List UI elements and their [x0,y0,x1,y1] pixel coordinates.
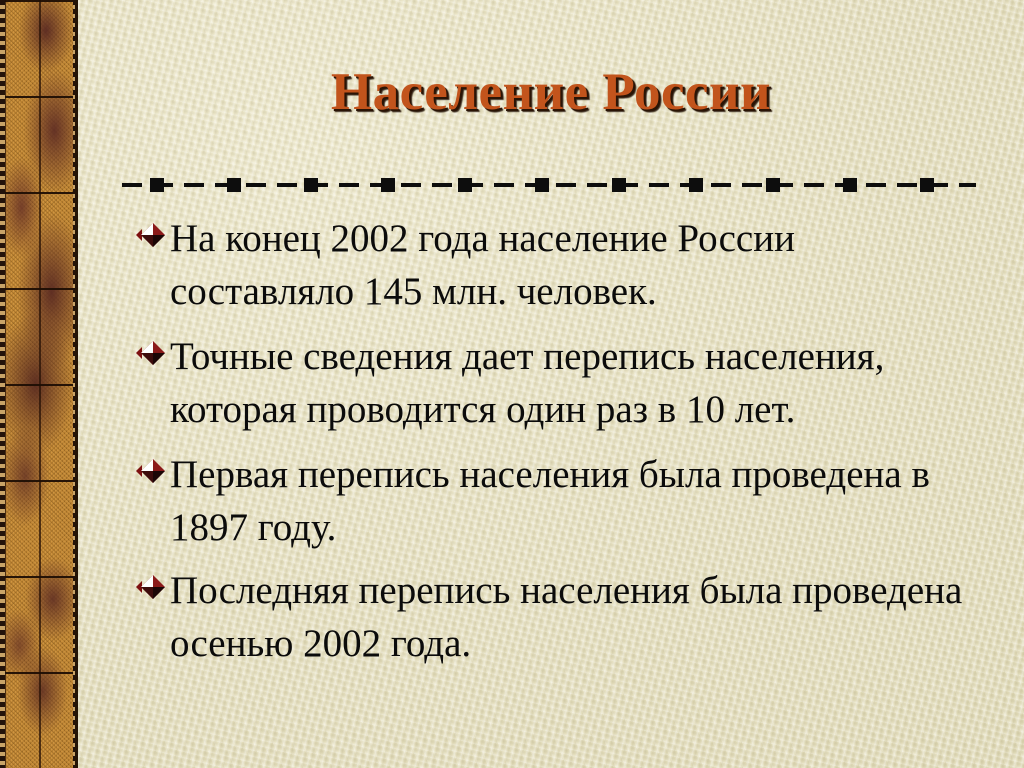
divider-node [535,178,549,192]
mosaic-rail-left [0,0,5,768]
diamond-arrow-bullet-icon [136,452,170,496]
list-item: На конец 2002 года население России сост… [136,212,1006,318]
list-item: Последняя перепись населения была провед… [136,564,1006,670]
divider-node [689,178,703,192]
divider-node [227,178,241,192]
list-item: Точные сведения дает перепись населения,… [136,330,1006,436]
list-item-text: Точные сведения дает перепись населения,… [170,330,980,436]
divider-node [304,178,318,192]
divider-node [843,178,857,192]
divider-node [381,178,395,192]
mosaic-border [0,0,78,768]
diamond-arrow-bullet-icon [136,216,170,260]
divider-node [612,178,626,192]
slide-title: Население России [78,62,1024,122]
list-item-text: Первая перепись населения была проведена… [170,448,960,554]
divider-node [150,178,164,192]
mosaic-grid-lines [4,0,74,768]
diamond-arrow-bullet-icon [136,568,170,612]
diamond-arrow-bullet-icon [136,334,170,378]
divider-node [920,178,934,192]
list-item: Первая перепись населения была проведена… [136,448,1006,554]
list-item-text: Последняя перепись населения была провед… [170,564,970,670]
slide-canvas: Население России На кон [0,0,1024,768]
list-item-text: На конец 2002 года население России сост… [170,212,975,318]
divider-node [458,178,472,192]
bullet-list: На конец 2002 года население России сост… [136,212,1006,676]
divider-node [766,178,780,192]
dashed-divider [122,178,976,192]
